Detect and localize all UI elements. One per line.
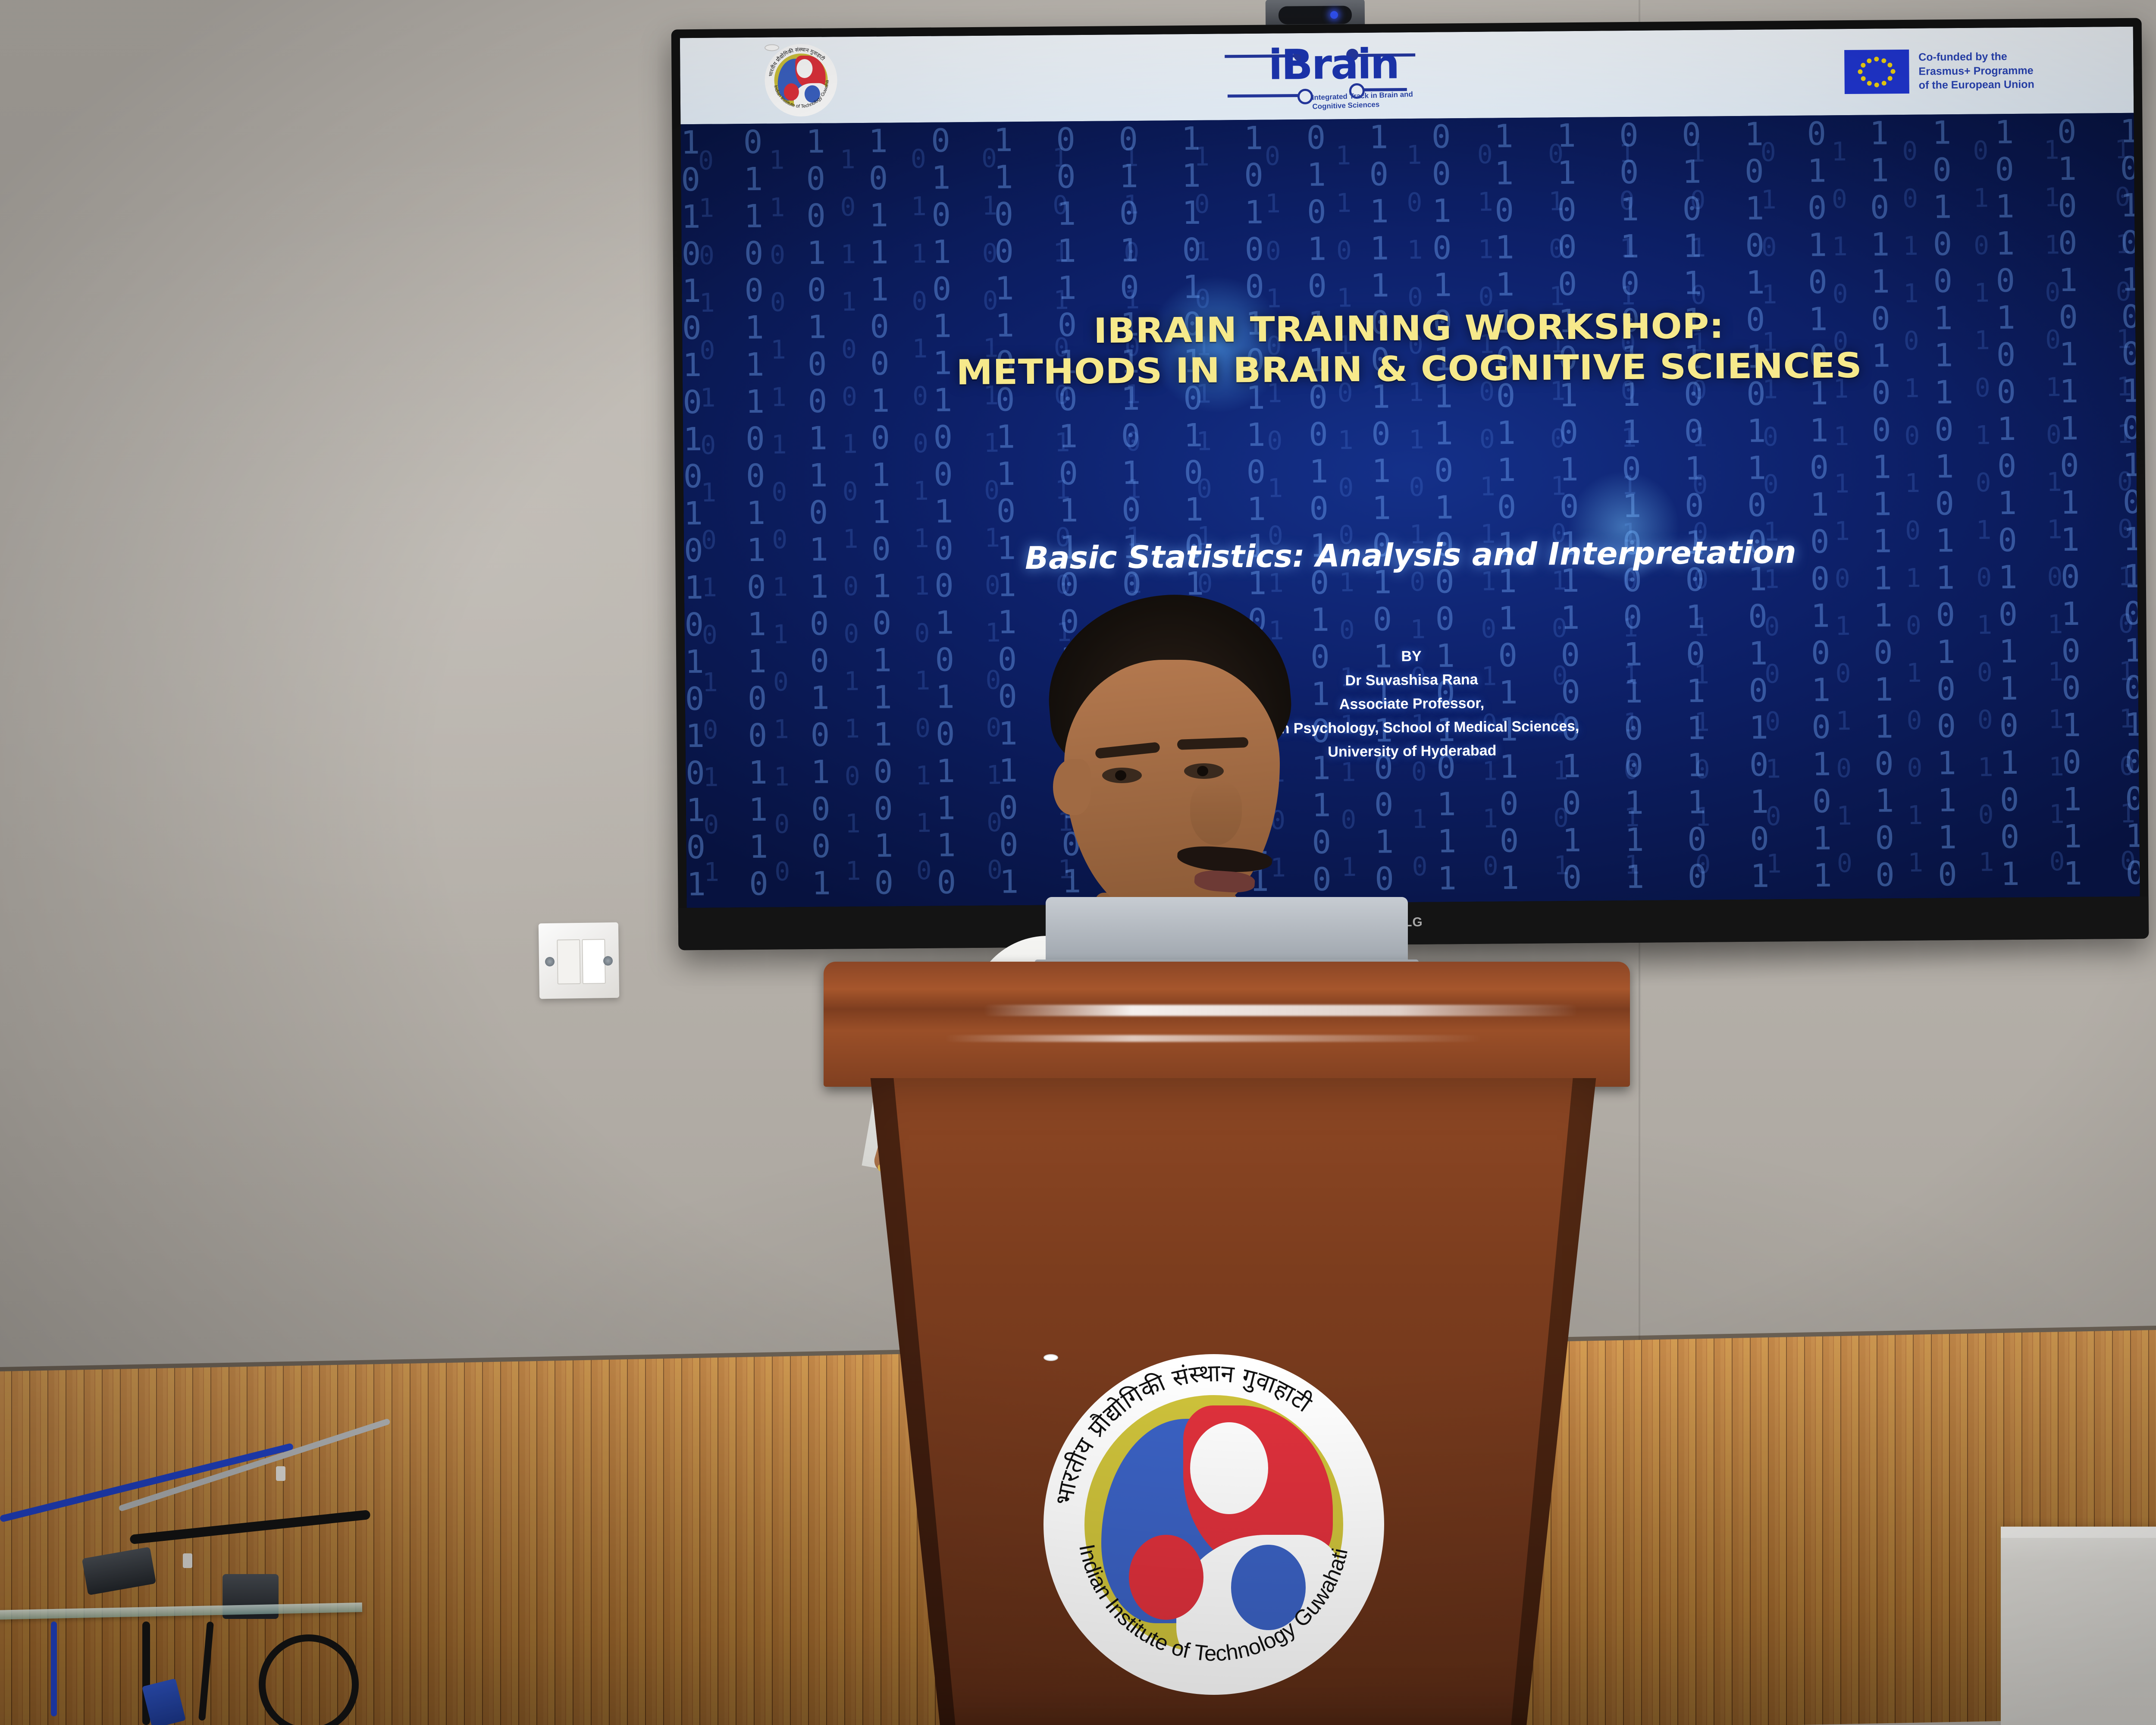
cable-clip (183, 1553, 192, 1568)
iit-guwahati-logo: भारतीय प्रौद्योगिकी संस्थान गुवाहाटी Ind… (765, 44, 837, 116)
podium-top (824, 962, 1630, 1087)
light-switch-plate[interactable] (539, 922, 619, 999)
switch-screw-left (545, 957, 555, 966)
presenter-nose (1190, 781, 1242, 845)
svg-text:भारतीय प्रौद्योगिकी संस्थान गु: भारतीय प्रौद्योगिकी संस्थान गुवाहाटी (767, 46, 826, 77)
svg-text:भारतीय प्रौद्योगिकी संस्थान गु: भारतीय प्रौद्योगिकी संस्थान गुवाहाटी (1050, 1360, 1317, 1508)
side-table-edge (2001, 1527, 2156, 1538)
slide-ibrain-logo-wrap: iBrain Integrated Track in Brain and Cog… (921, 41, 1745, 112)
ibrain-tagline: Integrated Track in Brain and Cognitive … (1312, 88, 1446, 111)
slide-header: भारतीय प्रौद्योगिकी संस्थान गुवाहाटी Ind… (680, 27, 2134, 124)
switch-screw-right (603, 956, 613, 966)
camera-led-indicator (1330, 11, 1338, 19)
iit-logo-circular-text: भारतीय प्रौद्योगिकी संस्थान गुवाहाटी Ind… (1044, 1354, 1384, 1695)
podium-iit-emblem: भारतीय प्रौद्योगिकी संस्थान गुवाहाटी Ind… (1044, 1354, 1384, 1695)
presentation-room-photo: भारतीय प्रौद्योगिकी संस्थान गुवाहाटी Ind… (0, 0, 2156, 1725)
svg-text:Indian Institute of Technology: Indian Institute of Technology Guwahati (1075, 1542, 1352, 1665)
cable-clip (276, 1466, 285, 1481)
presenter-ear (1053, 759, 1091, 815)
camera-lens (1279, 6, 1352, 24)
podium-highlight (944, 1035, 1483, 1042)
slide-funding-wrap: Co-funded by the Erasmus+ Programme of t… (1745, 48, 2134, 95)
ibrain-logo: iBrain Integrated Track in Brain and Cog… (1221, 43, 1446, 109)
presenter-eye-left (1102, 768, 1142, 783)
light-switch-rocker-right[interactable] (582, 939, 605, 984)
podium-highlight (983, 1005, 1578, 1016)
eu-funding-text: Co-funded by the Erasmus+ Programme of t… (1918, 50, 2034, 93)
eu-flag-icon (1844, 50, 1909, 94)
iit-guwahati-logo: भारतीय प्रौद्योगिकी संस्थान गुवाहाटी Ind… (1044, 1354, 1384, 1695)
iit-logo-circular-text: भारतीय प्रौद्योगिकी संस्थान गुवाहाटी Ind… (765, 44, 837, 116)
light-switch-rocker-left[interactable] (557, 939, 580, 985)
presenter-eye-right (1184, 763, 1224, 779)
side-table (2001, 1527, 2156, 1725)
slide-iit-logo-wrap: भारतीय प्रौद्योगिकी संस्थान गुवाहाटी Ind… (680, 43, 922, 117)
slide-title: IBRAIN TRAINING WORKSHOP: METHODS IN BRA… (680, 302, 2140, 395)
hanging-blue-cable (51, 1621, 57, 1716)
ibrain-wordmark: iBrain (1221, 39, 1446, 89)
